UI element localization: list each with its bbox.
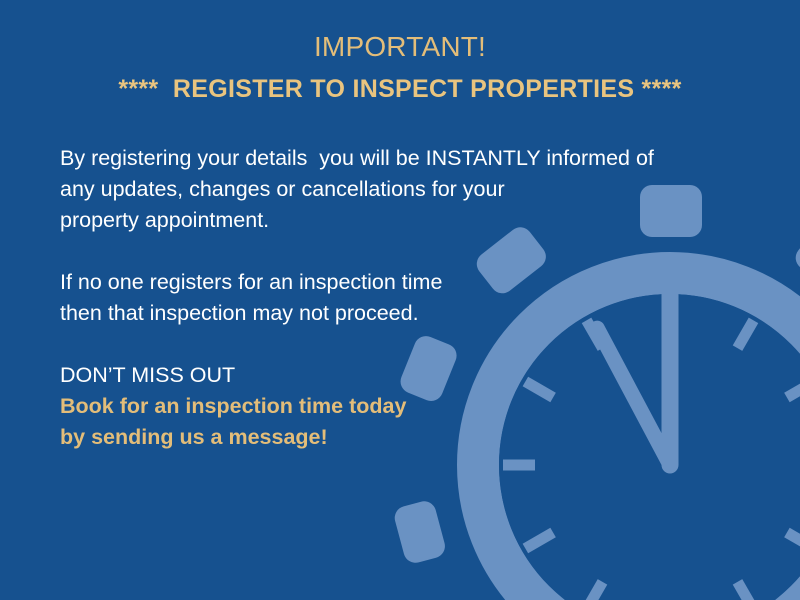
paragraph-no-registrations: If no one registers for an inspection ti… bbox=[60, 267, 740, 329]
slide-content: IMPORTANT! **** REGISTER TO INSPECT PROP… bbox=[0, 0, 800, 600]
headline-register: **** REGISTER TO INSPECT PROPERTIES **** bbox=[0, 72, 800, 106]
paragraph-line: then that inspection may not proceed. bbox=[60, 298, 740, 329]
paragraph-line: property appointment. bbox=[60, 205, 740, 236]
paragraph-line: By registering your details you will be … bbox=[60, 143, 740, 174]
paragraph-spacer bbox=[60, 329, 740, 360]
paragraph-registering: By registering your details you will be … bbox=[60, 143, 740, 236]
paragraph-spacer bbox=[60, 236, 740, 267]
headline-important: IMPORTANT! bbox=[0, 28, 800, 66]
call-to-action-block: DON’T MISS OUT Book for an inspection ti… bbox=[60, 360, 740, 453]
cta-dont-miss-out: DON’T MISS OUT bbox=[60, 360, 740, 391]
cta-send-message: by sending us a message! bbox=[60, 422, 740, 453]
promotional-slide: IMPORTANT! **** REGISTER TO INSPECT PROP… bbox=[0, 0, 800, 600]
cta-book-inspection: Book for an inspection time today bbox=[60, 391, 740, 422]
body-block: By registering your details you will be … bbox=[60, 143, 740, 453]
paragraph-line: If no one registers for an inspection ti… bbox=[60, 267, 740, 298]
paragraph-line: any updates, changes or cancellations fo… bbox=[60, 174, 740, 205]
heading-block: IMPORTANT! **** REGISTER TO INSPECT PROP… bbox=[0, 28, 800, 106]
